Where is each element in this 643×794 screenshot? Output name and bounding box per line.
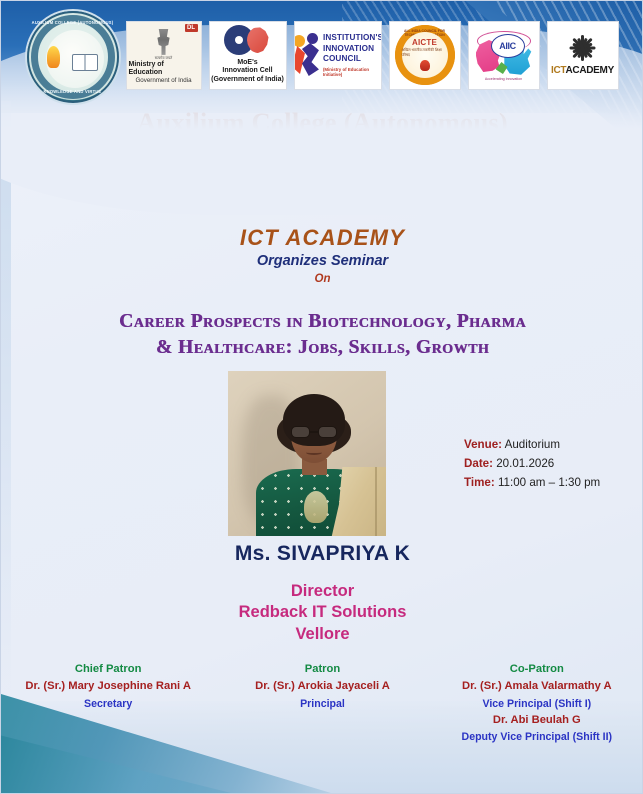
seminar-title-line2: & Healthcare: Jobs, Skills, Growth — [1, 335, 643, 361]
auxilium-college-seal-icon: AUXILIUM COLLEGE (AUTONOMOUS) KNOWLEDGE … — [27, 11, 119, 103]
time-row: Time: 11:00 am – 1:30 pm — [464, 474, 642, 493]
event-details: Venue: Auditorium Date: 20.01.2026 Time:… — [464, 436, 642, 492]
mic-line3: (Government of India) — [211, 76, 284, 84]
brain-icon — [247, 27, 269, 53]
aicte-core: AICTE अखिल भारतीय तकनीकी शिक्षा परिषद — [402, 32, 448, 78]
speaker-role-block: Director Redback IT Solutions Vellore — [1, 581, 643, 645]
aiic-text: AIIC — [499, 41, 515, 51]
speaker-organization: Redback IT Solutions — [1, 602, 643, 623]
speaker-photo — [228, 371, 386, 536]
iic-text-block: INSTITUTION'S INNOVATION COUNCIL (Minist… — [323, 33, 382, 77]
moe-line2: Government of India — [135, 77, 191, 84]
iic-head-purple — [307, 33, 318, 44]
iic-line3: COUNCIL — [323, 54, 382, 65]
on-word: On — [1, 273, 643, 285]
date-label: Date: — [464, 457, 493, 470]
venue-row: Venue: Auditorium — [464, 436, 642, 455]
seal-top-text: AUXILIUM COLLEGE (AUTONOMOUS) — [29, 20, 117, 25]
aicte-hindi: अखिल भारतीय तकनीकी शिक्षा परिषद — [402, 48, 448, 58]
gear-icon — [227, 28, 251, 52]
iic-figures-icon — [294, 33, 320, 77]
patron-column-co-patron: Co-Patron Dr. (Sr.) Amala Valarmathy A V… — [431, 661, 643, 746]
iic-line2: INNOVATION — [323, 44, 382, 55]
seminar-poster: AUXILIUM COLLEGE (AUTONOMOUS) KNOWLEDGE … — [0, 0, 643, 794]
dl-badge: DL — [185, 24, 198, 32]
photo-glasses-icon — [291, 426, 337, 439]
aiic-wordmark: AIIC — [491, 34, 525, 58]
flame-icon — [47, 46, 60, 68]
seminar-title-line1: Career Prospects in Biotechnology, Pharm… — [1, 309, 643, 335]
aiic-caption: Accelerating Innovation — [474, 77, 534, 81]
patron-title: Deputy Vice Principal (Shift II) — [431, 729, 643, 745]
seal-emblem — [46, 30, 104, 88]
patron-title: Vice Principal (Shift I) — [431, 696, 643, 712]
mic-line2: Innovation Cell — [222, 67, 272, 75]
seal-bottom-text: KNOWLEDGE AND VIRTUE — [29, 89, 117, 94]
aicte-lamp-icon — [420, 60, 430, 71]
logo-strip: AUXILIUM COLLEGE (AUTONOMOUS) KNOWLEDGE … — [1, 14, 643, 96]
date-row: Date: 20.01.2026 — [464, 455, 642, 474]
patron-title: Principal — [216, 696, 428, 712]
aicte-gear-icon: ALL INDIA COUNCIL FOR TECHNICAL EDUCATIO… — [395, 25, 455, 85]
photo-kurta-motif — [304, 491, 328, 523]
patron-heading: Chief Patron — [2, 661, 214, 678]
photo-smile — [306, 450, 322, 455]
speaker-location: Vellore — [1, 624, 643, 645]
ashoka-emblem-icon — [155, 29, 172, 55]
ministry-of-education-logo-icon: DL सत्यमेव जयते Ministry of Education Go… — [126, 21, 202, 90]
speaker-designation: Director — [1, 581, 643, 602]
partner-name: ICT ACADEMY — [1, 225, 643, 251]
ict-academy-wordmark: ICTACADEMY — [551, 65, 614, 76]
iic-line1: INSTITUTION'S — [323, 33, 382, 44]
moe-innovation-cell-logo-icon: MoE's Innovation Cell (Government of Ind… — [209, 21, 287, 90]
ict-starburst-icon — [570, 35, 596, 61]
ict-word-b: ACADEMY — [566, 65, 614, 76]
aiic-logo-icon: AIIC Accelerating Innovation — [468, 21, 540, 90]
aicte-logo-icon: ALL INDIA COUNCIL FOR TECHNICAL EDUCATIO… — [389, 21, 461, 90]
organizes-seminar: Organizes Seminar — [1, 253, 643, 269]
patron-heading: Co-Patron — [431, 661, 643, 678]
aicte-name: AICTE — [412, 39, 437, 47]
patron-name: Dr. Abi Beulah G — [431, 712, 643, 729]
ict-academy-logo-icon: ICTACADEMY — [547, 21, 619, 90]
mic-line1: MoE's — [237, 59, 257, 67]
open-book-icon — [72, 54, 98, 71]
venue-label: Venue: — [464, 438, 502, 451]
iic-body-purple — [302, 43, 319, 76]
gear-brain-icon — [227, 26, 269, 56]
patron-name: Dr. (Sr.) Arokia Jayaceli A — [216, 678, 428, 695]
iic-subtitle: (Ministry of Education Initiative) — [323, 67, 382, 77]
patron-name: Dr. (Sr.) Amala Valarmathy A — [431, 678, 643, 695]
iic-head-orange — [294, 35, 305, 47]
institutions-innovation-council-logo-icon: INSTITUTION'S INNOVATION COUNCIL (Minist… — [294, 21, 382, 90]
moe-line1: Ministry of Education — [129, 61, 199, 77]
date-value: 20.01.2026 — [496, 457, 554, 470]
aiic-graphic: AIIC Accelerating Innovation — [474, 30, 534, 80]
time-value: 11:00 am – 1:30 pm — [498, 476, 600, 489]
seminar-title: Career Prospects in Biotechnology, Pharm… — [1, 309, 643, 362]
photo-dupatta-fold — [375, 467, 377, 536]
venue-value: Auditorium — [505, 438, 560, 451]
time-label: Time: — [464, 476, 495, 489]
patron-column-patron: Patron Dr. (Sr.) Arokia Jayaceli A Princ… — [216, 661, 428, 712]
patron-name: Dr. (Sr.) Mary Josephine Rani A — [2, 678, 214, 695]
speaker-name: Ms. SIVAPRIYA K — [1, 542, 643, 566]
patron-heading: Patron — [216, 661, 428, 678]
ict-word-a: ICT — [551, 65, 565, 76]
